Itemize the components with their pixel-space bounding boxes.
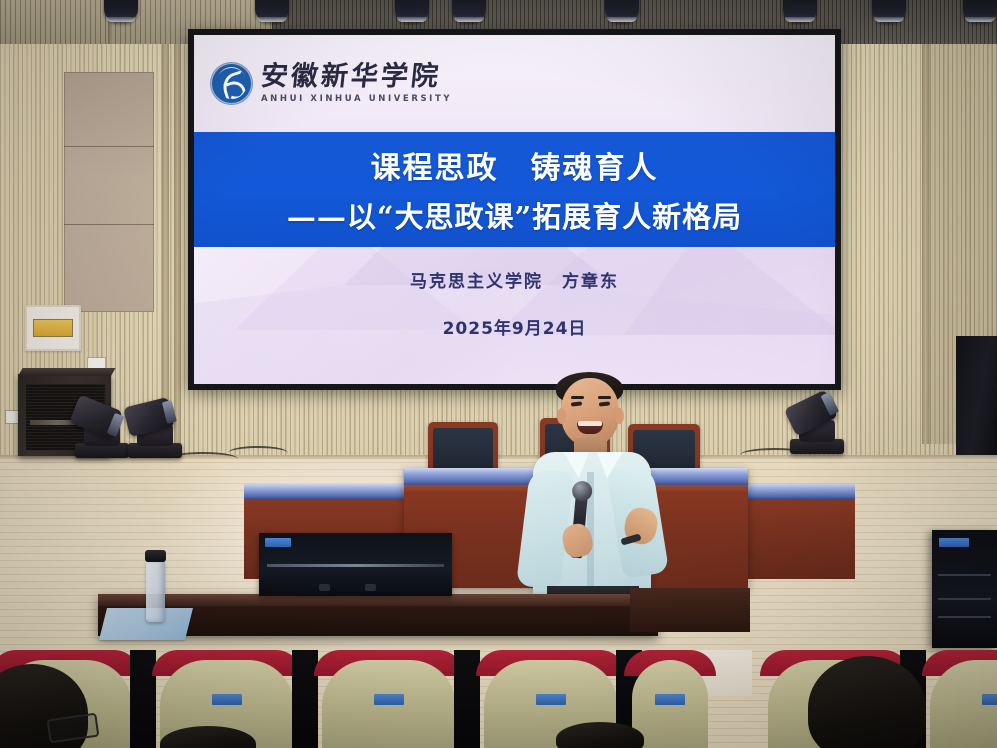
lecture-hall-photo: 安徽新华学院 ANHUI XINHUA UNIVERSITY 课程思政 铸魂育人… <box>0 0 997 748</box>
slide-date: 2025年9月24日 <box>443 314 587 339</box>
university-logo: 安徽新华学院 ANHUI XINHUA UNIVERSITY <box>211 63 452 104</box>
side-curtain <box>956 336 997 468</box>
downlight-icon <box>872 0 906 22</box>
presenter-mouth <box>577 421 603 434</box>
downlight-icon <box>605 0 639 22</box>
water-bottle <box>146 560 165 622</box>
wall-seam <box>922 44 929 444</box>
projection-screen-frame: 安徽新华学院 ANHUI XINHUA UNIVERSITY 课程思政 铸魂育人… <box>188 29 841 390</box>
seat-number-label <box>982 694 997 705</box>
slide-title-band: 课程思政 铸魂育人 ——以“大思政课”拓展育人新格局 <box>194 132 835 247</box>
wall-box-grille <box>33 319 73 337</box>
presenter-head <box>561 378 619 446</box>
slide-header: 安徽新华学院 ANHUI XINHUA UNIVERSITY <box>194 35 835 132</box>
moving-head-light <box>128 396 188 458</box>
projected-slide: 安徽新华学院 ANHUI XINHUA UNIVERSITY 课程思政 铸魂育人… <box>194 35 835 384</box>
rack-badge <box>939 538 969 547</box>
logo-name-en: ANHUI XINHUA UNIVERSITY <box>261 94 452 104</box>
slide-presenter-block: 马克思主义学院 方章东 2025年9月24日 <box>194 267 835 339</box>
logo-name-cn: 安徽新华学院 <box>260 63 454 91</box>
seat-number-label <box>374 694 404 705</box>
seat-number-label <box>536 694 566 705</box>
downlight-icon <box>963 0 997 22</box>
equipment-rack <box>932 530 997 648</box>
av-control-panel[interactable] <box>259 533 452 596</box>
wall-electrical-box <box>25 305 81 351</box>
downlight-icon <box>452 0 486 22</box>
av-panel-badge <box>265 538 291 547</box>
seat-number-label <box>655 694 685 705</box>
slide-title-main: 课程思政 铸魂育人 <box>371 143 659 187</box>
floor-cable <box>228 446 288 460</box>
university-crest-icon <box>211 63 252 104</box>
presenter-person <box>505 372 680 612</box>
audience-seat[interactable] <box>314 650 464 748</box>
presenter-ear <box>557 408 566 424</box>
downlight-icon <box>395 0 429 22</box>
attendee-head <box>556 722 644 748</box>
moving-head-light <box>790 392 850 454</box>
slide-presenter-name: 马克思主义学院 方章东 <box>410 267 619 292</box>
slide-title-sub: ——以“大思政课”拓展育人新格局 <box>287 194 742 236</box>
seat-number-label <box>212 694 242 705</box>
downlight-icon <box>255 0 289 22</box>
audience-seat[interactable] <box>922 650 997 748</box>
downlight-icon <box>104 0 138 22</box>
floor-cable <box>740 448 810 462</box>
presenter-ear <box>615 408 624 424</box>
rostrum-desk-right <box>735 484 855 579</box>
front-table-right-section <box>630 588 750 632</box>
wall-door <box>64 72 154 312</box>
downlight-icon <box>783 0 817 22</box>
